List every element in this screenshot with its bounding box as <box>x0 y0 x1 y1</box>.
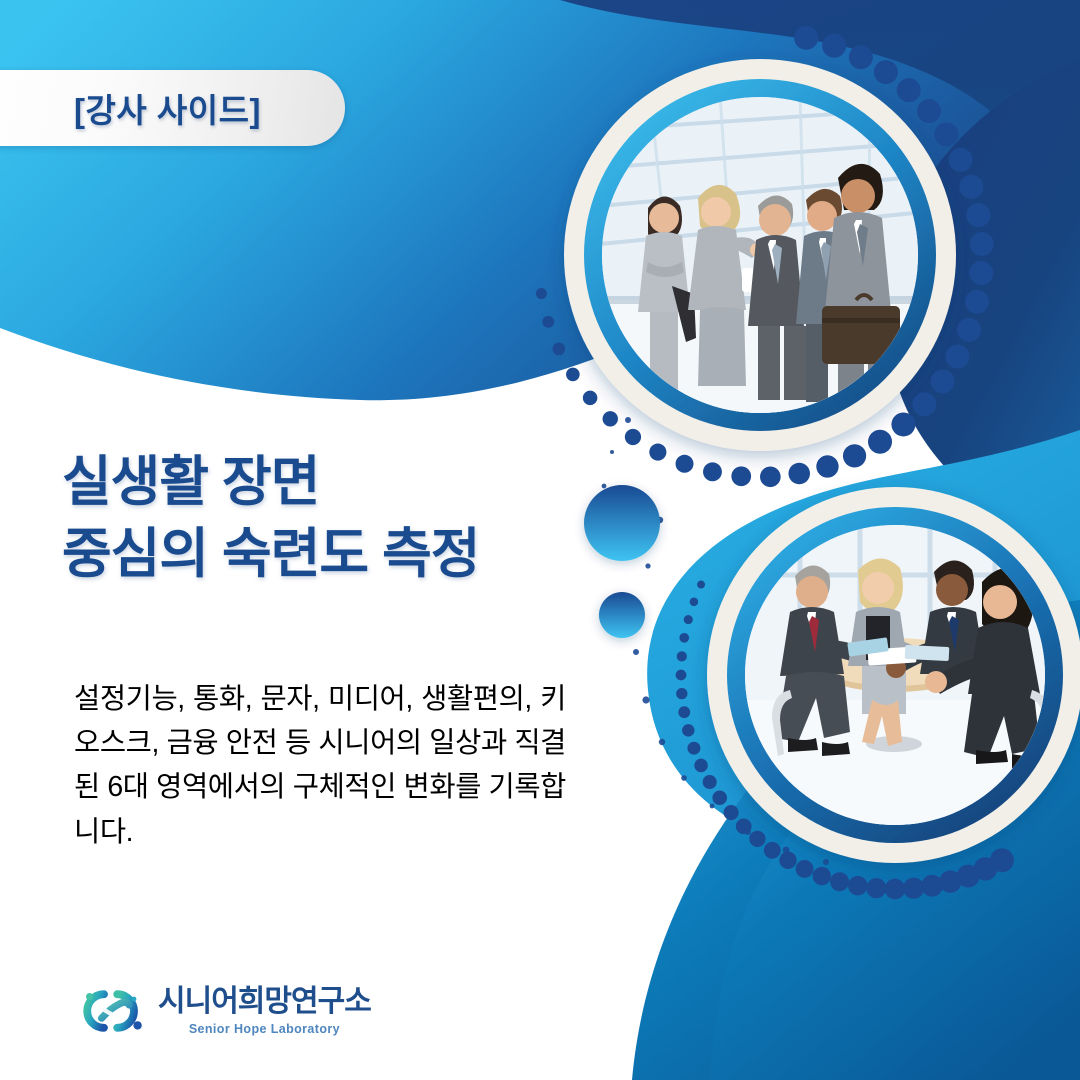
section-badge: [강사 사이드] <box>0 70 345 146</box>
senior-hope-infinity-mark <box>80 982 146 1040</box>
promo-card: [강사 사이드] 실생활 장면 중심의 숙련도 측정 설정기능, 통화, 문자,… <box>0 0 1080 1080</box>
brand-name-english: Senior Hope Laboratory <box>158 1023 371 1036</box>
brand-logo-wordmark: 시니어희망연구소 Senior Hope Laboratory <box>158 987 371 1036</box>
brand-name-korean: 시니어희망연구소 <box>158 987 371 1017</box>
page-title-line-2: 중심의 숙련도 측정 <box>62 519 602 591</box>
page-title: 실생활 장면 중심의 숙련도 측정 <box>62 447 602 591</box>
page-title-line-1: 실생활 장면 <box>62 447 602 519</box>
description-paragraph: 설정기능, 통화, 문자, 미디어, 생활편의, 키오스크, 금융 안전 등 시… <box>74 677 566 855</box>
section-badge-label: [강사 사이드] <box>74 84 261 132</box>
brand-logo: 시니어희망연구소 Senior Hope Laboratory <box>80 982 371 1040</box>
